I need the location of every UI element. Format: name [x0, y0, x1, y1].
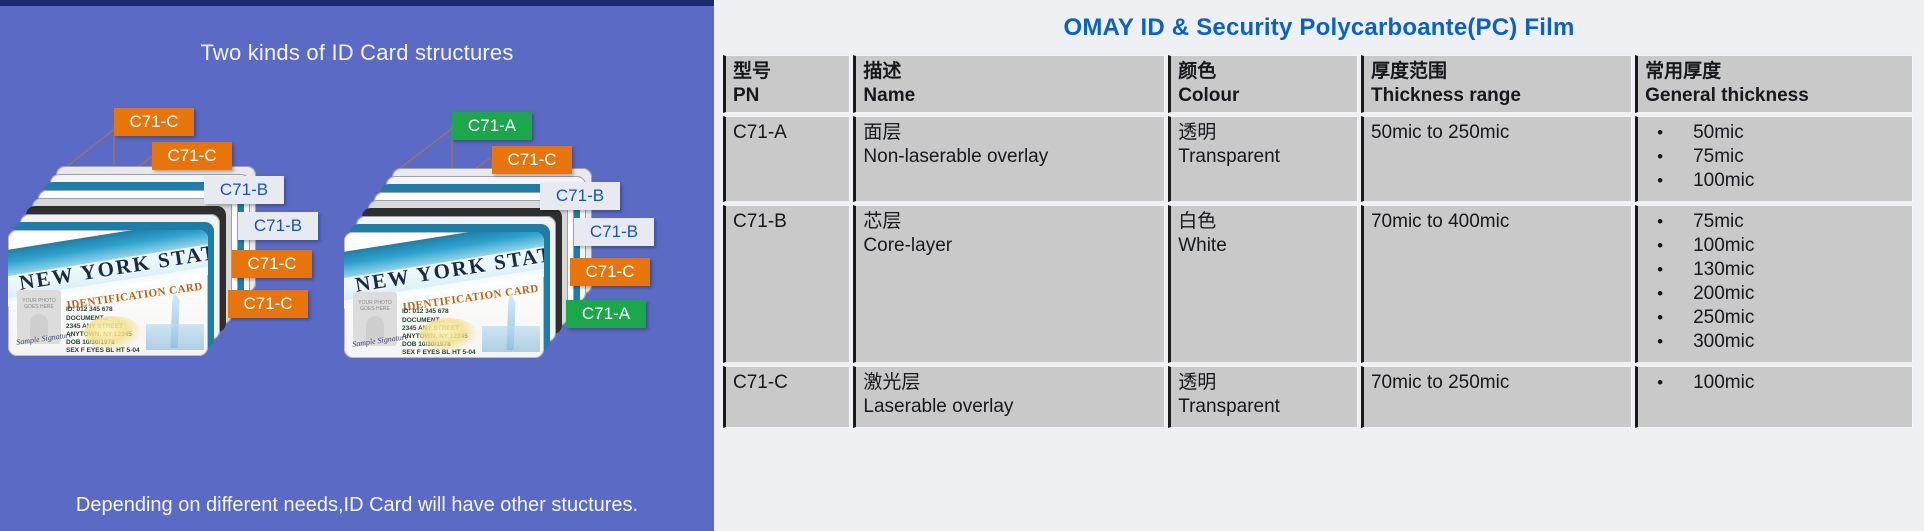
general-thickness-list: 75mic100mic130mic200mic250mic300mic: [1645, 210, 1906, 354]
cell-colour-cn: 白色: [1178, 210, 1351, 234]
cell-thickness-range: 50mic to 250mic: [1361, 116, 1632, 202]
cell-colour-en: Transparent: [1178, 395, 1351, 419]
cell-colour-en: Transparent: [1178, 145, 1351, 169]
cell-pn: C71-B: [723, 205, 850, 363]
cell-colour: 白色White: [1168, 205, 1358, 363]
table-row: C71-A面层Non-laserable overlay透明Transparen…: [723, 116, 1913, 202]
slide-caption: Depending on different needs,ID Card wil…: [0, 494, 714, 517]
slide-screenshot: Two kinds of ID Card structures: [0, 0, 1924, 531]
general-thickness-item: 100mic: [1649, 234, 1906, 258]
column-header-cn: 常用厚度: [1645, 60, 1906, 84]
general-thickness-item: 200mic: [1649, 282, 1906, 306]
spec-table: 型号 PN 描述 Name 颜色 Colour 厚度范围 Thickness r…: [720, 52, 1916, 431]
general-thickness-item: 75mic: [1649, 210, 1906, 234]
diagram-label-c71-a: C71-A: [452, 112, 532, 140]
general-thickness-item: 75mic: [1649, 145, 1906, 169]
cell-general-thickness: 50mic75mic100mic: [1635, 116, 1913, 202]
cell-colour: 透明Transparent: [1168, 116, 1358, 202]
diagram-label-c71-c: C71-C: [492, 146, 572, 174]
cell-name-cn: 面层: [863, 121, 1158, 145]
id-card-photo-placeholder: YOUR PHOTO GOES HERE: [356, 300, 394, 312]
cell-name-en: Laserable overlay: [863, 395, 1158, 419]
column-header-thickness-range: 厚度范围 Thickness range: [1361, 55, 1632, 113]
column-header-pn: 型号 PN: [723, 55, 850, 113]
diagram-label-c71-c: C71-C: [152, 142, 232, 170]
column-header-colour: 颜色 Colour: [1168, 55, 1358, 113]
cell-general-thickness: 75mic100mic130mic200mic250mic300mic: [1635, 205, 1913, 363]
general-thickness-item: 250mic: [1649, 306, 1906, 330]
column-header-cn: 颜色: [1178, 60, 1351, 84]
general-thickness-list: 50mic75mic100mic: [1645, 121, 1906, 193]
general-thickness-list: 100mic: [1645, 371, 1906, 395]
cell-pn: C71-C: [723, 366, 850, 428]
column-header-en: PN: [733, 84, 843, 108]
column-header-cn: 型号: [733, 60, 843, 84]
cell-thickness-range: 70mic to 400mic: [1361, 205, 1632, 363]
diagram-label-c71-b: C71-B: [204, 176, 284, 204]
cell-colour-cn: 透明: [1178, 121, 1351, 145]
cell-name: 芯层Core-layer: [853, 205, 1165, 363]
table-row: C71-C激光层Laserable overlay透明Transparent70…: [723, 366, 1913, 428]
cell-colour-en: White: [1178, 234, 1351, 258]
column-header-general-thickness: 常用厚度 General thickness: [1635, 55, 1913, 113]
diagram-label-c71-c: C71-C: [232, 250, 312, 278]
diagram-label-c71-a: C71-A: [566, 300, 646, 328]
cell-name-cn: 芯层: [863, 210, 1158, 234]
column-header-name: 描述 Name: [853, 55, 1165, 113]
diagram-label-c71-c: C71-C: [228, 290, 308, 318]
cell-general-thickness: 100mic: [1635, 366, 1913, 428]
general-thickness-item: 50mic: [1649, 121, 1906, 145]
general-thickness-item: 300mic: [1649, 330, 1906, 354]
cell-name-en: Non-laserable overlay: [863, 145, 1158, 169]
diagram-label-c71-c: C71-C: [114, 108, 194, 136]
spec-table-heading: OMAY ID & Security Polycarboante(PC) Fil…: [714, 0, 1924, 52]
cell-thickness-range: 70mic to 250mic: [1361, 366, 1632, 428]
spec-table-panel: OMAY ID & Security Polycarboante(PC) Fil…: [714, 0, 1924, 531]
cell-name-en: Core-layer: [863, 234, 1158, 258]
diagram-label-c71-c: C71-C: [570, 258, 650, 286]
cell-colour-cn: 透明: [1178, 371, 1351, 395]
table-row: C71-B芯层Core-layer白色White70mic to 400mic7…: [723, 205, 1913, 363]
cell-name: 面层Non-laserable overlay: [853, 116, 1165, 202]
cell-colour: 透明Transparent: [1168, 366, 1358, 428]
cell-name: 激光层Laserable overlay: [853, 366, 1165, 428]
general-thickness-item: 100mic: [1649, 371, 1906, 395]
column-header-en: General thickness: [1645, 84, 1906, 108]
id-card-field: ID: 012 345 678: [66, 306, 113, 313]
diagram-label-c71-b: C71-B: [540, 182, 620, 210]
diagram-label-c71-b: C71-B: [238, 212, 318, 240]
id-card-field: ID: 012 345 678: [402, 308, 449, 315]
cell-name-cn: 激光层: [863, 371, 1158, 395]
left-slide-panel: Two kinds of ID Card structures: [0, 0, 714, 531]
column-header-cn: 厚度范围: [1371, 60, 1625, 84]
column-header-cn: 描述: [863, 60, 1158, 84]
column-header-en: Thickness range: [1371, 84, 1625, 108]
general-thickness-item: 130mic: [1649, 258, 1906, 282]
cell-pn: C71-A: [723, 116, 850, 202]
diagram-label-c71-b: C71-B: [574, 218, 654, 246]
column-header-en: Name: [863, 84, 1158, 108]
id-card-photo-placeholder: YOUR PHOTO GOES HERE: [20, 298, 58, 310]
table-header-row: 型号 PN 描述 Name 颜色 Colour 厚度范围 Thickness r…: [723, 55, 1913, 113]
general-thickness-item: 100mic: [1649, 169, 1906, 193]
column-header-en: Colour: [1178, 84, 1351, 108]
